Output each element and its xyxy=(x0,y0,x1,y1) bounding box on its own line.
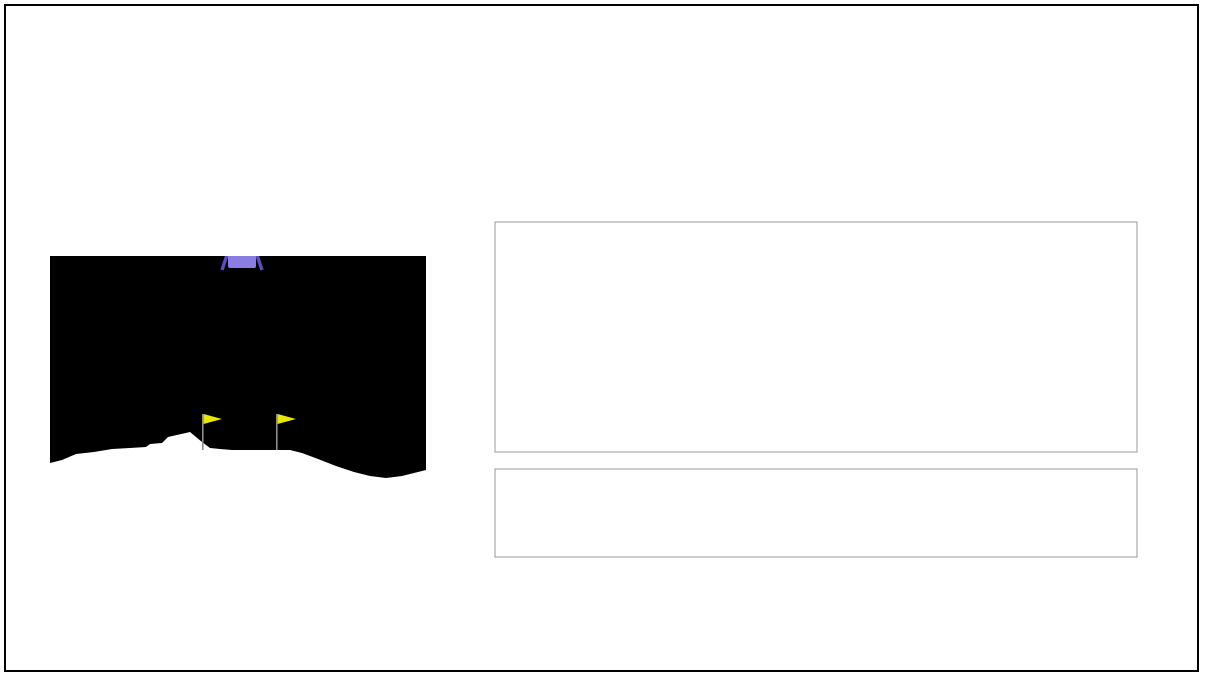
posterior-axes xyxy=(476,204,1137,452)
flag-pole xyxy=(276,414,278,450)
flag-pole xyxy=(202,414,204,450)
lunar-lander-render xyxy=(50,256,426,490)
slide xyxy=(4,4,1199,672)
lander-body xyxy=(228,256,256,268)
axes-frame xyxy=(495,222,1137,452)
bayesian-optimization-figure xyxy=(476,204,1151,564)
axes-frame xyxy=(495,469,1137,557)
